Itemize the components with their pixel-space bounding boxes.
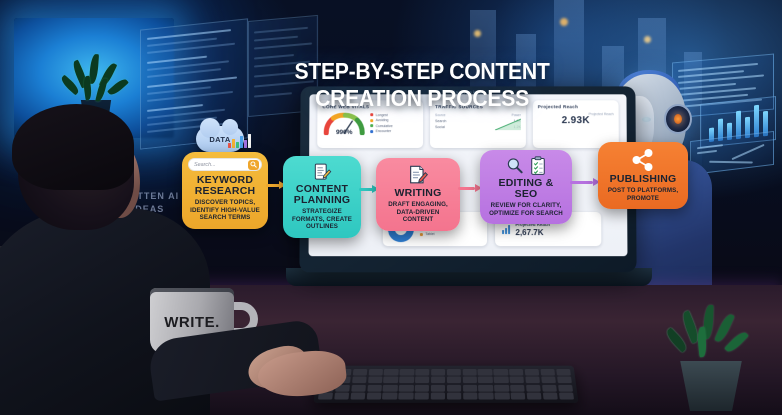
document-pencil-icon <box>382 164 454 186</box>
share-nodes-icon <box>604 148 682 172</box>
step-editing-seo[interactable]: EDITING & SEO REVIEW FOR CLARITY, OPTIMI… <box>480 150 572 224</box>
step-description: STRATEGIZE FORMATS, CREATE OUTLINES <box>289 208 355 231</box>
traffic-sources-table: Source Power Search 1.0K Social 1.2K <box>435 112 521 130</box>
keyboard[interactable] <box>313 366 578 403</box>
search-input[interactable]: Search... <box>188 158 262 171</box>
keyboard-keys <box>318 369 574 400</box>
step-description: DISCOVER TOPICS, IDENTIFY HIGH-VALUE SEA… <box>188 199 262 222</box>
data-cloud-label: DATA <box>209 135 230 144</box>
projected-reach-2-value: 2,67.7K <box>515 228 550 237</box>
magnifier-checklist-icon <box>486 156 566 176</box>
mug-text: WRITE. <box>158 314 226 331</box>
legend-label: Encounter <box>376 129 391 133</box>
step-title: CONTENT PLANNING <box>289 184 355 206</box>
mini-bar-chart-icon <box>228 134 251 148</box>
step-description: REVIEW FOR CLARITY, OPTIMIZE FOR SEARCH <box>486 202 566 217</box>
core-web-vitals-value: 990% <box>322 129 366 136</box>
step-title: WRITING <box>382 188 454 199</box>
page-title: STEP-BY-STEP CONTENT CREATION PROCESS <box>247 58 597 112</box>
person-hair <box>12 104 134 190</box>
search-placeholder: Search... <box>194 162 216 168</box>
legend-label: Cumulative <box>376 124 393 128</box>
legend-label: Avoiding <box>376 118 389 122</box>
legend-label: Tablet <box>425 232 434 236</box>
step-title: KEYWORD RESEARCH <box>188 175 262 197</box>
step-title: EDITING & SEO <box>486 178 566 200</box>
search-icon[interactable] <box>248 160 259 170</box>
robot-ear-module <box>664 104 692 134</box>
core-web-vitals-gauge: 990% <box>322 111 366 135</box>
step-description: DRAFT ENGAGING, DATA-DRIVEN CONTENT <box>382 201 454 224</box>
step-description: POST TO PLATFORMS, PROMOTE <box>604 187 682 202</box>
traffic-col-header: Power <box>512 113 521 117</box>
step-title: PUBLISHING <box>604 174 682 185</box>
core-web-vitals-legend: Longest Avoiding Cumulative Encounter <box>370 113 392 133</box>
legend-label: Longest <box>376 113 388 117</box>
content-creation-infographic: MacBook Air CORE WEB VITALS <box>0 0 782 415</box>
projected-reach-value: 2.93K <box>538 115 614 126</box>
bar-chart-icon <box>502 225 510 234</box>
desk-plant-right <box>660 303 758 411</box>
traffic-sparkline <box>495 118 521 130</box>
step-publishing[interactable]: PUBLISHING POST TO PLATFORMS, PROMOTE <box>598 142 688 209</box>
step-writing[interactable]: WRITING DRAFT ENGAGING, DATA-DRIVEN CONT… <box>376 158 460 231</box>
notepad-pencil-icon <box>289 162 355 182</box>
step-content-planning[interactable]: CONTENT PLANNING STRATEGIZE FORMATS, CRE… <box>283 156 361 238</box>
step-keyword-research[interactable]: Search... KEYWORD RESEARCH DISCOVER TOPI… <box>182 152 268 229</box>
traffic-col-header: Source <box>435 113 445 117</box>
